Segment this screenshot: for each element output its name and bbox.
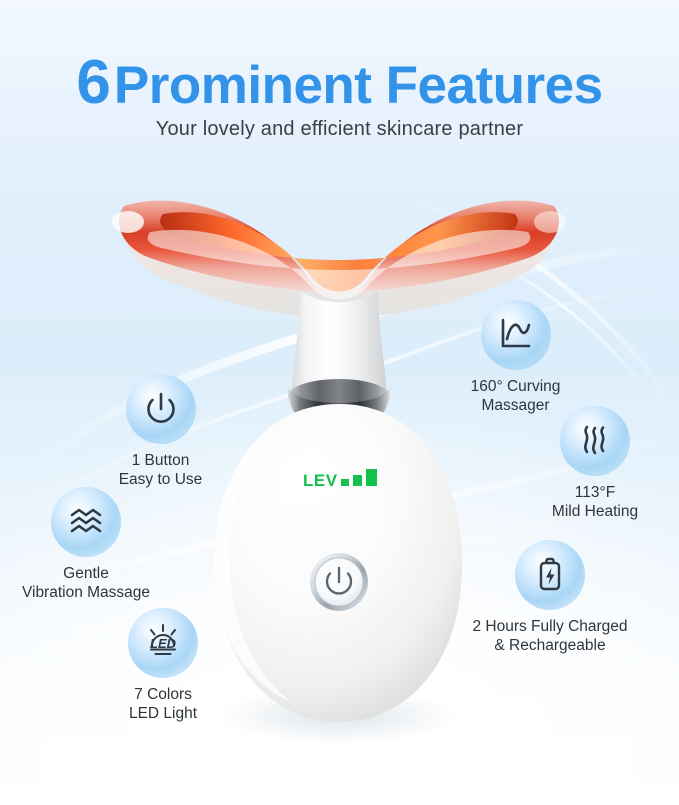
feature-badge: LED	[128, 608, 198, 678]
feature-label: 7 Colors LED Light	[98, 686, 228, 724]
infographic-canvas: 6Prominent Features Your lovely and effi…	[0, 0, 679, 805]
feature-label: Gentle Vibration Massage	[6, 565, 166, 603]
feature-label-line2: Easy to Use	[119, 471, 203, 488]
feature-label-line2: & Rechargeable	[494, 637, 605, 654]
heat-waves-icon	[573, 419, 617, 463]
feature-label: 113°F Mild Heating	[525, 484, 665, 522]
feature-label-line2: LED Light	[129, 705, 197, 722]
curve-graph-icon	[494, 313, 538, 357]
feature-mild-heating[interactable]: 113°F Mild Heating	[525, 406, 665, 522]
display-level-label: LEV	[303, 471, 338, 490]
feature-label-line1: Gentle	[63, 565, 109, 582]
feature-vibration-massage[interactable]: Gentle Vibration Massage	[6, 487, 166, 603]
feature-badge	[51, 487, 121, 557]
device-power-button[interactable]	[310, 553, 368, 611]
feature-curving-massager[interactable]: 160° Curving Massager	[443, 300, 588, 416]
feature-label-line2: Vibration Massage	[22, 584, 150, 601]
feature-label-line1: 1 Button	[132, 452, 190, 469]
feature-badge	[481, 300, 551, 370]
svg-text:LED: LED	[150, 636, 177, 651]
device-stem	[292, 290, 386, 392]
feature-rechargeable-battery[interactable]: 2 Hours Fully Charged & Rechargeable	[440, 540, 660, 656]
feature-led-light[interactable]: LED 7 Colors LED Light	[98, 608, 228, 724]
feature-label-line1: 7 Colors	[134, 686, 192, 703]
feature-badge	[515, 540, 585, 610]
feature-label-line2: Mild Heating	[552, 503, 638, 520]
vibration-waves-icon	[64, 500, 108, 544]
feature-label-line1: 2 Hours Fully Charged	[472, 618, 627, 635]
feature-label-line1: 160° Curving	[471, 378, 561, 395]
feature-badge	[126, 374, 196, 444]
feature-label: 2 Hours Fully Charged & Rechargeable	[440, 618, 660, 656]
feature-one-button[interactable]: 1 Button Easy to Use	[93, 374, 228, 490]
led-light-icon: LED	[140, 620, 186, 666]
feature-label: 1 Button Easy to Use	[93, 452, 228, 490]
battery-bolt-icon	[528, 553, 572, 597]
feature-badge	[560, 406, 630, 476]
power-icon	[139, 387, 183, 431]
feature-label-line1: 113°F	[575, 484, 615, 501]
